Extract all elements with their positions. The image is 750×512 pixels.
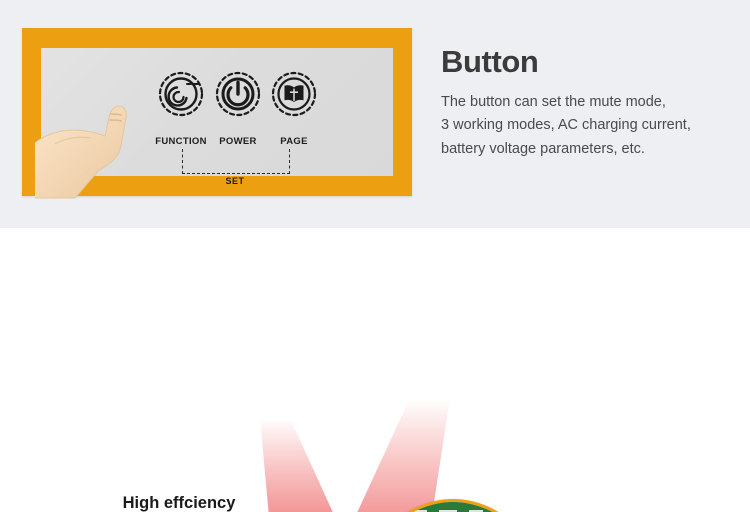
set-label: SET [182,176,288,186]
button-panel-frame: FUNCTION POWER PAGE SET [22,28,412,196]
pointing-hand-icon [35,80,165,200]
button-label-page: PAGE [259,136,329,147]
feature-label-motherboard-line1: High effciency [84,493,274,512]
description-line-2: 3 working modes, AC charging current, [441,114,741,137]
aluminum-heat-sink-photo [354,499,552,512]
button-control-panel: FUNCTION POWER PAGE SET [41,48,393,176]
feature-label-motherboard: High effciency motherboard [84,493,274,512]
description-line-1: The button can set the mute mode, [441,91,741,114]
top-feature-section: FUNCTION POWER PAGE SET [0,0,750,228]
glow-beam-right [330,398,550,512]
description-line-3: battery voltage parameters, etc. [441,138,741,161]
page-title: Button [441,46,741,79]
bottom-feature-section: High effciency motherboard Aluminum allo… [0,228,750,512]
set-bracket [182,149,290,174]
book-page-icon[interactable] [270,70,318,118]
top-text-block: Button The button can set the mute mode,… [441,46,741,161]
power-icon[interactable] [214,70,262,118]
